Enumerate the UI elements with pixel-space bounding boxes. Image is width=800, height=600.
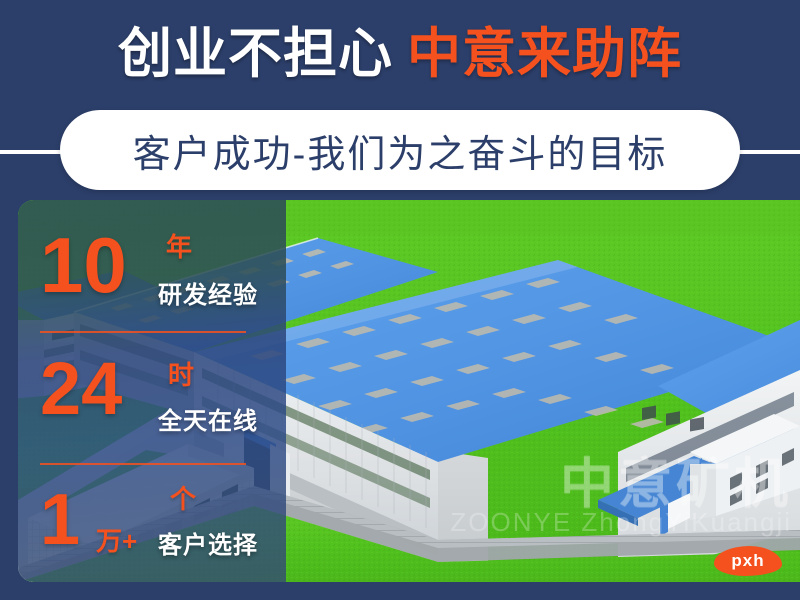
stat-3-suffix: 万+ [96,528,137,554]
stat-3-unit: 个 [170,486,196,512]
stat-item-rnd-experience: 10 年 研发经验 [18,200,286,328]
stat-2-description: 全天在线 [158,410,258,434]
stats-panel: 10 年 研发经验 24 时 全天在线 1 万+ 个 客户选择 [18,200,286,582]
pxh-badge: pxh [714,546,782,576]
headline-white-part: 创业不担心 [118,24,393,84]
stat-2-number: 24 [40,352,122,426]
promotional-banner: 创业不担心中意来助阵 客户成功-我们为之奋斗的目标 [0,0,800,600]
stat-1-unit: 年 [166,234,192,260]
stat-1-description: 研发经验 [158,284,258,308]
stat-2-unit: 时 [168,362,194,388]
headline: 创业不担心中意来助阵 [0,22,800,86]
stat-3-description: 客户选择 [158,534,258,558]
subtitle-text: 客户成功-我们为之奋斗的目标 [133,123,668,178]
headline-accent-part: 中意来助阵 [407,24,682,84]
stat-separator-1 [40,331,246,333]
stat-item-online-hours: 24 时 全天在线 [18,338,286,466]
stat-3-number: 1 [40,484,80,556]
stat-item-customer-choice: 1 万+ 个 客户选择 [18,472,286,582]
subtitle-pill: 客户成功-我们为之奋斗的目标 [60,110,740,190]
stat-separator-2 [40,463,246,465]
stat-1-number: 10 [40,226,127,304]
